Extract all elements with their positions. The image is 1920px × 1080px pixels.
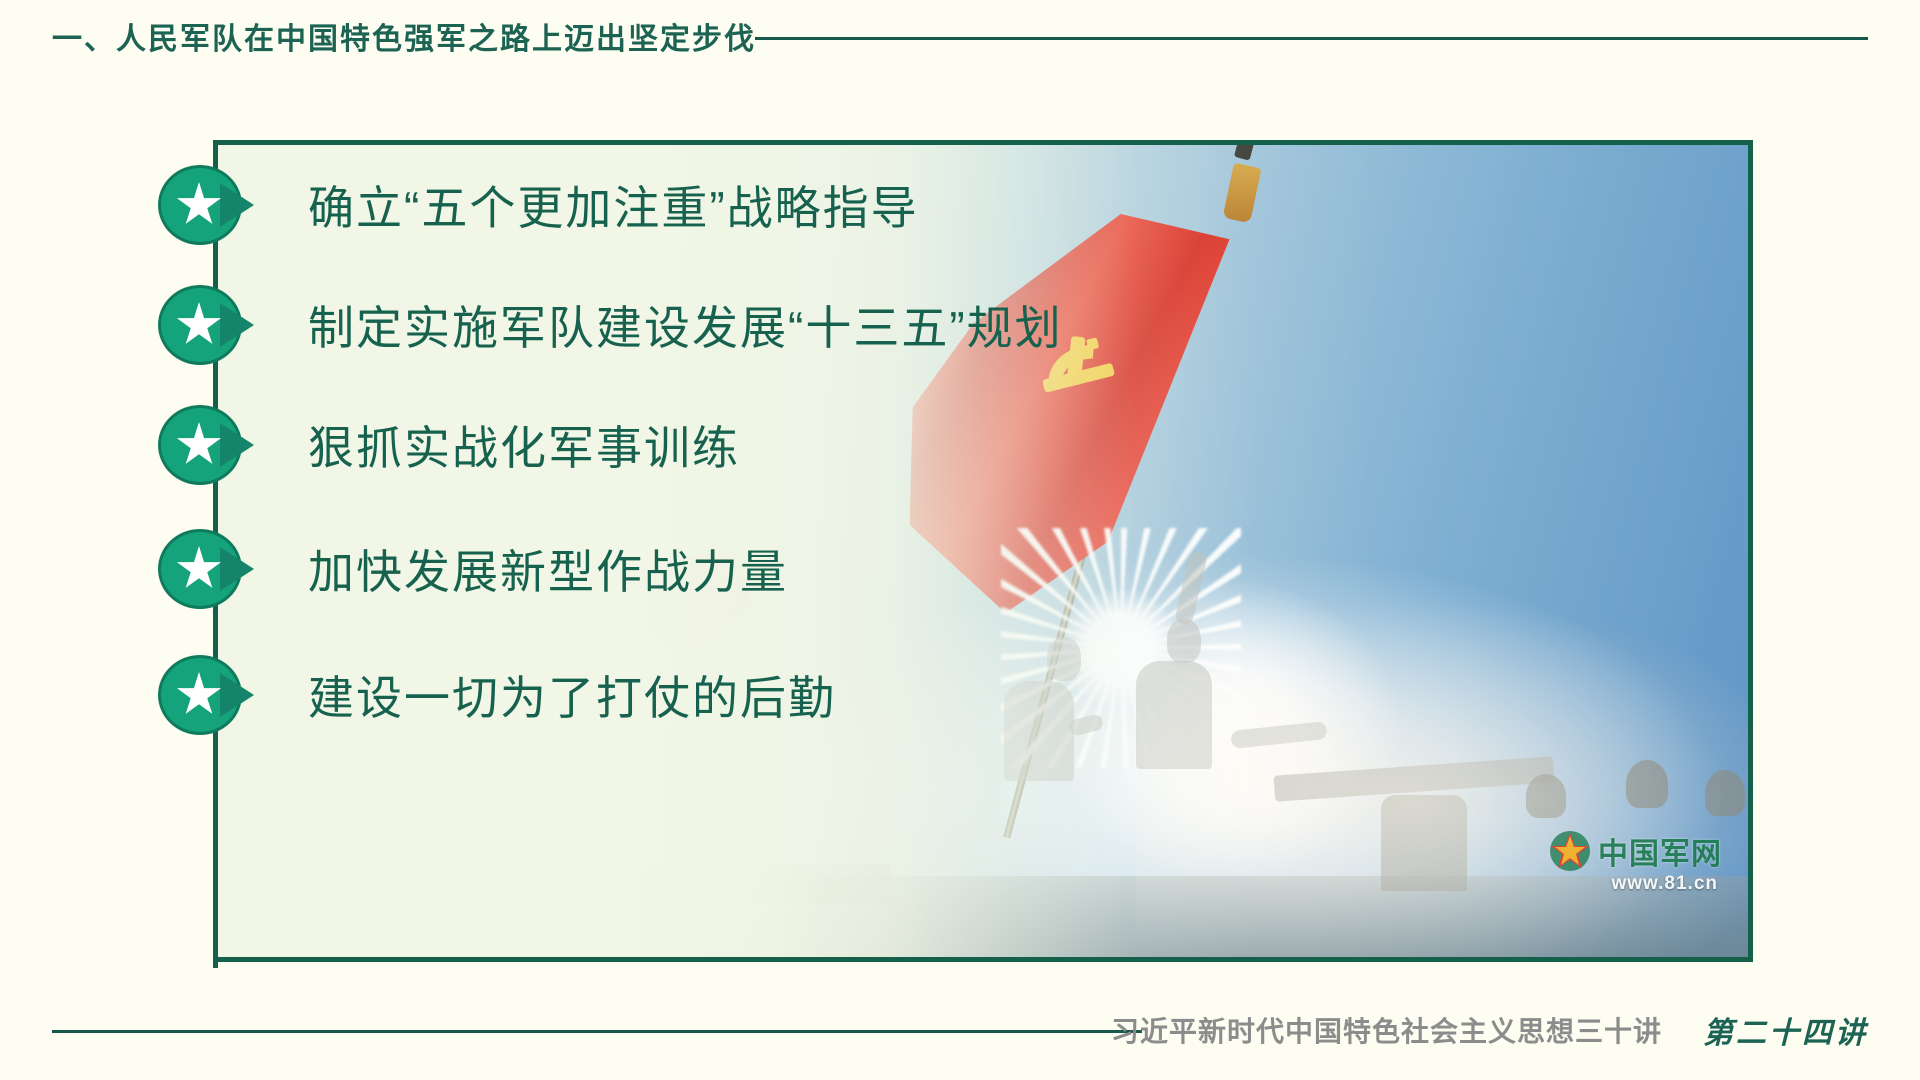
list-item[interactable]: 建设一切为了打仗的后勤	[158, 655, 836, 735]
bullet-arrow-icon	[220, 183, 254, 227]
star-bullet-marker	[158, 285, 274, 365]
footer-book-title: 习近平新时代中国特色社会主义思想三十讲	[1111, 1010, 1662, 1050]
bullet-list: 确立“五个更加注重”战略指导 制定实施军队建设发展“十三五”规划 狠抓实战化军事…	[0, 0, 1920, 1080]
bullet-arrow-icon	[220, 423, 254, 467]
bullet-arrow-icon	[220, 547, 254, 591]
list-item[interactable]: 确立“五个更加注重”战略指导	[158, 165, 919, 245]
list-item-label: 建设一切为了打仗的后勤	[308, 662, 836, 728]
list-item-label: 加快发展新型作战力量	[308, 536, 788, 602]
list-item[interactable]: 制定实施军队建设发展“十三五”规划	[158, 285, 1063, 365]
slide-root: 一、人民军队在中国特色强军之路上迈出坚定步伐	[0, 0, 1920, 1080]
bullet-arrow-icon	[220, 303, 254, 347]
star-bullet-marker	[158, 405, 274, 485]
footer-lecture-number: 第二十四讲	[1703, 1008, 1868, 1052]
list-item-label: 狠抓实战化军事训练	[308, 412, 740, 478]
bullet-arrow-icon	[220, 673, 254, 717]
slide-footer: 习近平新时代中国特色社会主义思想三十讲 第二十四讲	[0, 988, 1920, 1080]
list-item-label: 制定实施军队建设发展“十三五”规划	[308, 292, 1063, 358]
star-bullet-marker	[158, 655, 274, 735]
star-bullet-marker	[158, 165, 274, 245]
star-bullet-marker	[158, 529, 274, 609]
footer-divider	[52, 1030, 1142, 1033]
list-item[interactable]: 加快发展新型作战力量	[158, 529, 788, 609]
list-item[interactable]: 狠抓实战化军事训练	[158, 405, 740, 485]
list-item-label: 确立“五个更加注重”战略指导	[308, 172, 919, 238]
